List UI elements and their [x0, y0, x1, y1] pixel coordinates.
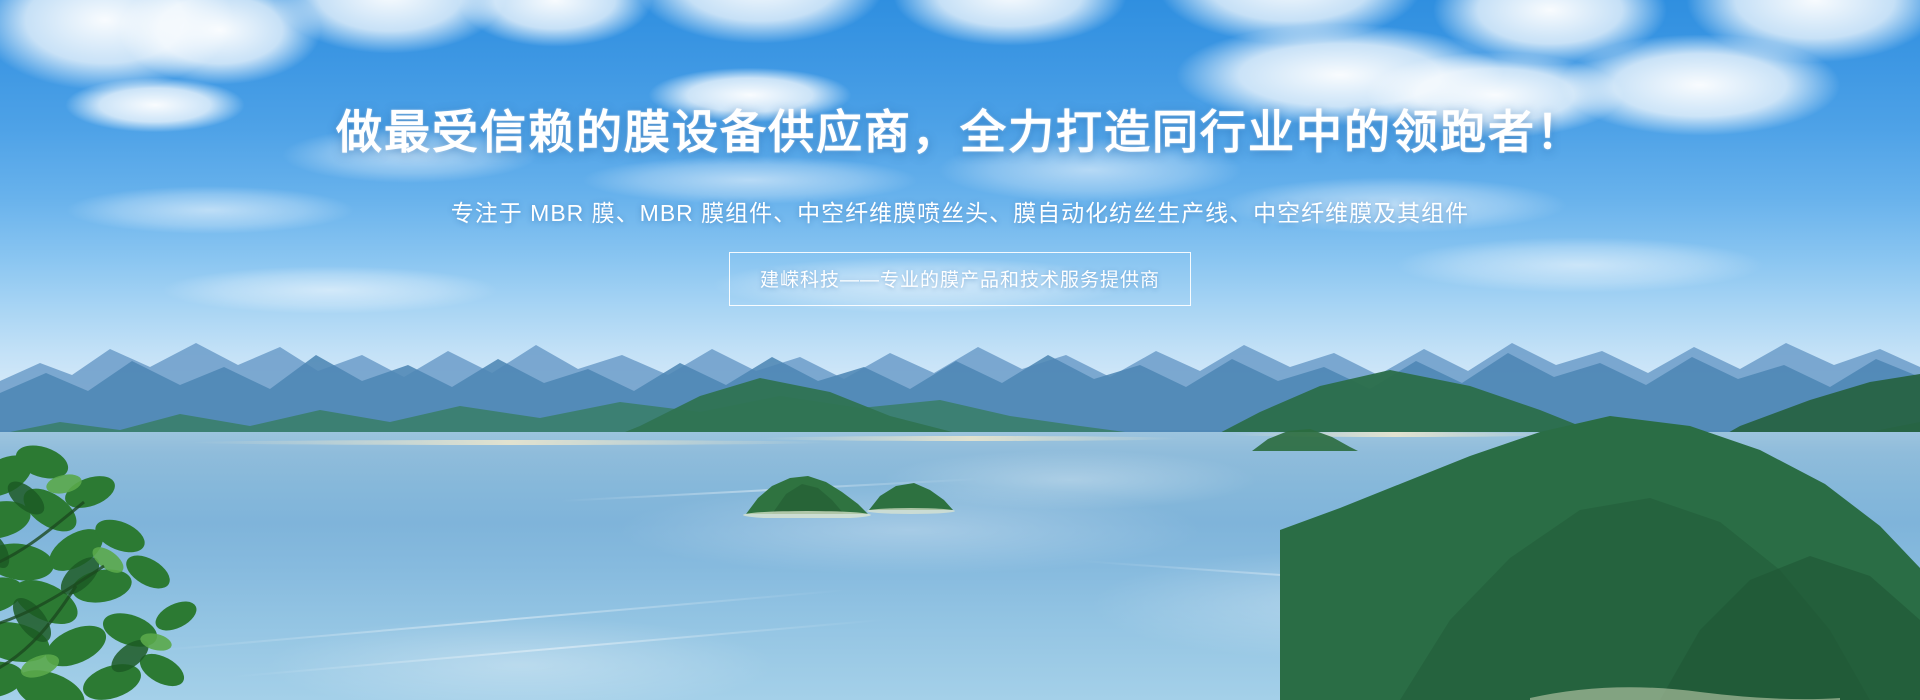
banner-headline: 做最受信赖的膜设备供应商，全力打造同行业中的领跑者！ — [336, 96, 1584, 162]
banner-subheadline: 专注于 MBR 膜、MBR 膜组件、中空纤维膜喷丝头、膜自动化纺丝生产线、中空纤… — [451, 194, 1469, 228]
hero-banner: 做最受信赖的膜设备供应商，全力打造同行业中的领跑者！ 专注于 MBR 膜、MBR… — [0, 0, 1920, 700]
banner-tagline-box: 建嵘科技——专业的膜产品和技术服务提供商 — [729, 252, 1191, 306]
forested-shore-right — [1280, 380, 1920, 700]
wooded-island — [742, 470, 872, 518]
cloud-wisp — [30, 180, 390, 240]
wooded-island — [866, 478, 956, 514]
foreground-tree-branch — [0, 380, 310, 700]
